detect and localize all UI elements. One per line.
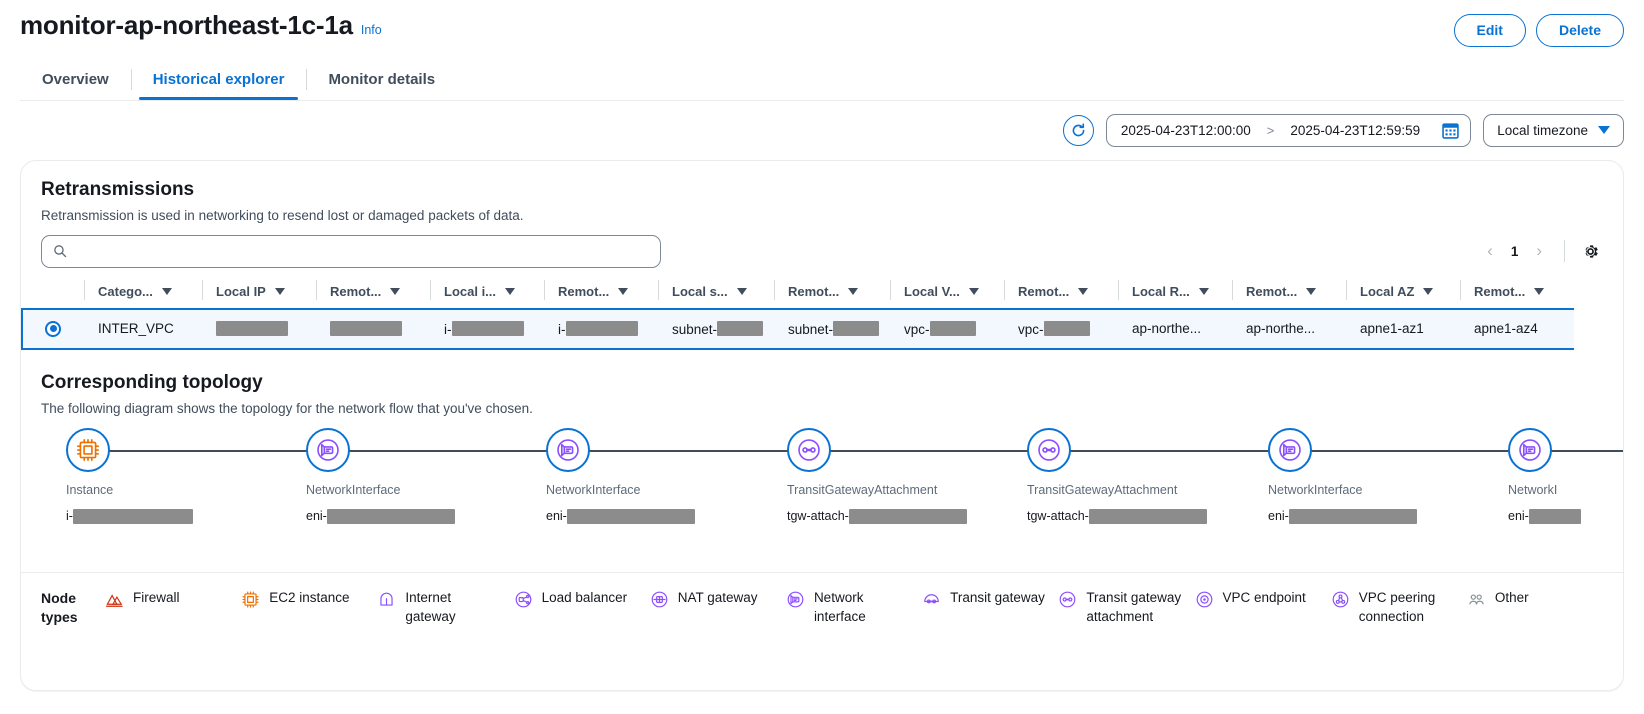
redacted-value [566,321,638,336]
node-types-legend: Node types Firewall EC2 instance Int [21,573,1623,627]
internet-gateway-icon [377,590,396,609]
redacted-value [833,321,879,336]
network-interface-icon [1277,437,1303,463]
sort-icon[interactable] [1423,288,1433,295]
delete-button[interactable]: Delete [1536,14,1624,47]
topology-nodes: Instance i- NetworkInterface eni- [21,422,1623,572]
cell-local-subnet: subnet- [658,309,774,349]
sort-icon[interactable] [1078,288,1088,295]
topology-node-id-prefix: i- [66,509,73,523]
legend-item: NAT gateway [650,589,786,614]
column-header-remote-region[interactable]: Remot... [1232,278,1346,309]
date-range-picker[interactable]: 2025-04-23T12:00:00 > 2025-04-23T12:59:5… [1106,114,1471,147]
topology-node-id-prefix: eni- [1268,509,1289,523]
table-row[interactable]: INTER_VPC i- i- subnet- subnet- vpc- vpc… [22,309,1574,349]
timezone-select[interactable]: Local timezone [1483,114,1624,147]
topology-node-id: eni- [546,509,695,524]
cell-text: apne1-az4 [1474,321,1538,336]
column-label: Remot... [1474,284,1525,299]
column-label: Local R... [1132,284,1190,299]
date-range-from[interactable]: 2025-04-23T12:00:00 [1121,123,1251,138]
table-controls-row: ‹ 1 › [41,235,1603,268]
sort-icon[interactable] [1534,288,1544,295]
vpc-peering-connection-icon [1331,590,1350,609]
redacted-value [1089,509,1207,524]
radio-dot [50,325,57,332]
redacted-value [73,509,193,524]
legend-item: EC2 instance [241,589,377,614]
timezone-label: Local timezone [1497,123,1588,138]
topology-node-type: TransitGatewayAttachment [1027,483,1207,497]
legend-item-label: Internet gateway [405,589,501,625]
redacted-value [1044,321,1090,336]
redacted-value [1529,509,1581,524]
column-label: Remot... [1018,284,1069,299]
redacted-value [452,321,524,336]
topology-node[interactable]: TransitGatewayAttachment tgw-attach- [1027,428,1207,524]
column-label: Local i... [444,284,496,299]
column-label: Local V... [904,284,960,299]
legend-item-label: Network interface [814,589,910,625]
network-interface-icon [786,590,805,609]
cell-text: ap-northe... [1132,321,1201,336]
load-balancer-icon [514,590,533,609]
sort-icon[interactable] [618,288,628,295]
legend-icon-wrap [241,590,260,614]
legend-icon-wrap [650,590,669,614]
legend-icon-wrap [377,590,396,614]
pagination-page-number[interactable]: 1 [1506,244,1524,259]
transit-gateway-attachment-icon [796,437,822,463]
retransmissions-description: Retransmission is used in networking to … [41,208,1603,223]
legend-icon-wrap [514,590,533,614]
column-header-local-subnet[interactable]: Local s... [658,278,774,309]
redacted-value [216,321,288,336]
topology-description: The following diagram shows the topology… [41,401,1603,416]
refresh-button[interactable] [1063,115,1094,146]
topology-node-type: TransitGatewayAttachment [787,483,967,497]
cell-local-region: ap-northe... [1118,309,1232,349]
column-header-local-instance[interactable]: Local i... [430,278,544,309]
topology-node-circle[interactable] [546,428,590,472]
legend-icon-wrap [922,590,941,614]
cell-remote-ip [316,309,430,349]
chevron-down-icon [1598,126,1610,134]
network-interface-icon [315,437,341,463]
gear-icon [1581,242,1600,261]
topology-node[interactable]: TransitGatewayAttachment tgw-attach- [787,428,967,524]
firewall-icon [105,590,124,609]
cell-remote-vpc: vpc- [1004,309,1118,349]
topology-node[interactable]: NetworkInterface eni- [1268,428,1417,524]
cell-text: i- [444,322,452,337]
search-icon [53,244,67,258]
pagination-next-button[interactable]: › [1527,239,1551,263]
sort-icon[interactable] [1199,288,1209,295]
redacted-value [567,509,695,524]
tabs-bar: Overview Historical explorer Monitor det… [0,61,1644,100]
cell-local-ip [202,309,316,349]
sort-icon[interactable] [737,288,747,295]
redacted-value [849,509,967,524]
search-input[interactable] [76,243,649,260]
title-wrap: monitor-ap-northeast-1c-1a Info [20,10,382,41]
topology-node-id: tgw-attach- [1027,509,1207,524]
ec2-instance-icon [75,437,101,463]
legend-item: Transit gateway [922,589,1058,614]
cell-text: ap-northe... [1246,321,1315,336]
column-header-local-region[interactable]: Local R... [1118,278,1232,309]
topology-node-circle[interactable] [1027,428,1071,472]
legend-item-label: Load balancer [542,589,628,607]
sort-icon[interactable] [390,288,400,295]
column-header-remote-subnet[interactable]: Remot... [774,278,890,309]
topology-node[interactable]: NetworkInterface eni- [546,428,695,524]
redacted-value [330,321,402,336]
topology-node[interactable]: Instance i- [66,428,193,524]
column-label: Catego... [98,284,153,299]
topology-node-id: i- [66,509,193,524]
legend-item: Other [1467,589,1603,614]
topology-node-type: NetworkInterface [1268,483,1417,497]
sort-icon[interactable] [969,288,979,295]
tools-divider [1564,240,1565,262]
column-header-local-ip[interactable]: Local IP [202,278,316,309]
redacted-value [1289,509,1417,524]
cell-remote-subnet: subnet- [774,309,890,349]
date-range-to[interactable]: 2025-04-23T12:59:59 [1290,123,1420,138]
flows-table-container: Catego... Local IP Remot... Local i... R… [21,278,1623,350]
column-label: Local IP [216,284,266,299]
topology-node-type: NetworkInterface [306,483,455,497]
topology-node-id: eni- [1268,509,1417,524]
retransmissions-section: Retransmissions Retransmission is used i… [21,161,1623,268]
ec2-instance-icon [241,590,260,609]
legend-icon-wrap [1195,590,1214,614]
legend-item: Internet gateway [377,589,513,625]
sort-icon[interactable] [848,288,858,295]
legend-items: Firewall EC2 instance Internet gateway [105,589,1603,625]
date-range-separator: > [1267,123,1275,138]
topology-node-circle[interactable] [66,428,110,472]
topology-section: Corresponding topology The following dia… [21,350,1623,416]
topology-node-type: NetworkI [1508,483,1581,497]
info-link[interactable]: Info [361,23,382,37]
retransmissions-title: Retransmissions [41,179,1603,201]
tab-historical-explorer[interactable]: Historical explorer [131,61,307,100]
topology-node-circle[interactable] [1268,428,1312,472]
other-icon [1467,590,1486,609]
vpc-endpoint-icon [1195,590,1214,609]
cell-text: vpc- [904,322,930,337]
transit-gateway-icon [922,590,941,609]
table-preferences-button[interactable] [1578,240,1603,263]
column-header-remote-ip[interactable]: Remot... [316,278,430,309]
cell-text: vpc- [1018,322,1044,337]
column-header-category[interactable]: Catego... [84,278,202,309]
legend-item: Transit gateway attachment [1058,589,1194,625]
column-label: Remot... [330,284,381,299]
cell-local-instance: i- [430,309,544,349]
legend-item-label: Other [1495,589,1529,607]
page-title: monitor-ap-northeast-1c-1a [20,10,353,41]
redacted-value [327,509,455,524]
topology-node-type: NetworkInterface [546,483,695,497]
sort-icon[interactable] [275,288,285,295]
refresh-icon [1070,122,1087,139]
cell-text: i- [558,322,566,337]
topology-title: Corresponding topology [41,372,1603,394]
time-controls-row: 2025-04-23T12:00:00 > 2025-04-23T12:59:5… [0,101,1644,160]
transit-gateway-attachment-icon [1058,590,1077,609]
legend-item: Load balancer [514,589,650,614]
cell-text: subnet- [672,322,717,337]
topology-node-id-prefix: eni- [306,509,327,523]
cell-local-az: apne1-az1 [1346,309,1460,349]
edit-button[interactable]: Edit [1454,14,1526,47]
column-header-remote-vpc[interactable]: Remot... [1004,278,1118,309]
pagination-prev-button[interactable]: ‹ [1478,239,1502,263]
column-label: Remot... [788,284,839,299]
column-header-remote-az[interactable]: Remot... [1460,278,1574,309]
topology-node-id: eni- [1508,509,1581,524]
legend-item-label: Transit gateway [950,589,1045,607]
cell-text: subnet- [788,322,833,337]
flows-table: Catego... Local IP Remot... Local i... R… [21,278,1574,350]
row-radio-button[interactable] [45,321,61,337]
column-label: Remot... [558,284,609,299]
topology-node-id-prefix: eni- [1508,509,1529,523]
transit-gateway-attachment-icon [1036,437,1062,463]
select-column-header [22,278,84,309]
column-header-local-vpc[interactable]: Local V... [890,278,1004,309]
topology-node[interactable]: NetworkI eni- [1508,428,1581,524]
topology-node-circle[interactable] [1508,428,1552,472]
flows-table-body: INTER_VPC i- i- subnet- subnet- vpc- vpc… [22,309,1574,349]
cell-category: INTER_VPC [84,309,202,349]
legend-item-label: VPC peering connection [1359,589,1455,625]
column-label: Local s... [672,284,728,299]
legend-title: Node types [41,589,105,627]
legend-item-label: VPC endpoint [1223,589,1306,607]
flows-header-row: Catego... Local IP Remot... Local i... R… [22,278,1574,309]
column-label: Local AZ [1360,284,1414,299]
legend-icon-wrap [105,590,124,614]
legend-icon-wrap [1331,590,1350,614]
network-interface-icon [555,437,581,463]
tab-monitor-details[interactable]: Monitor details [306,61,457,100]
redacted-value [930,321,976,336]
topology-node-id-prefix: eni- [546,509,567,523]
legend-icon-wrap [786,590,805,614]
column-label: Remot... [1246,284,1297,299]
topology-diagram: Instance i- NetworkInterface eni- [21,422,1623,572]
topology-node[interactable]: NetworkInterface eni- [306,428,455,524]
topology-node-circle[interactable] [306,428,350,472]
redacted-value [717,321,763,336]
calendar-icon[interactable] [1442,122,1459,139]
cell-text: INTER_VPC [98,321,174,336]
sort-icon[interactable] [1306,288,1316,295]
legend-item: Firewall [105,589,241,614]
cell-local-vpc: vpc- [890,309,1004,349]
header-actions: Edit Delete [1454,10,1624,47]
flows-table-head: Catego... Local IP Remot... Local i... R… [22,278,1574,309]
topology-node-id: eni- [306,509,455,524]
network-interface-icon [1517,437,1543,463]
tab-overview[interactable]: Overview [20,61,131,100]
legend-item: Network interface [786,589,922,625]
row-select-cell[interactable] [22,309,84,349]
topology-node-type: Instance [66,483,193,497]
search-box[interactable] [41,235,661,268]
legend-item-label: EC2 instance [269,589,349,607]
cell-remote-az: apne1-az4 [1460,309,1574,349]
legend-item-label: NAT gateway [678,589,758,607]
table-tools: ‹ 1 › [1478,239,1603,263]
legend-icon-wrap [1058,590,1077,614]
topology-node-id-prefix: tgw-attach- [787,509,849,523]
cell-text: apne1-az1 [1360,321,1424,336]
legend-item: VPC peering connection [1331,589,1467,625]
topology-node-circle[interactable] [787,428,831,472]
topology-node-id: tgw-attach- [787,509,967,524]
legend-icon-wrap [1467,590,1486,614]
legend-item-label: Firewall [133,589,180,607]
column-header-local-az[interactable]: Local AZ [1346,278,1460,309]
sort-icon[interactable] [162,288,172,295]
cell-remote-region: ap-northe... [1232,309,1346,349]
nat-gateway-icon [650,590,669,609]
legend-item: VPC endpoint [1195,589,1331,614]
legend-item-label: Transit gateway attachment [1086,589,1182,625]
page-header: monitor-ap-northeast-1c-1a Info Edit Del… [0,0,1644,47]
cell-remote-instance: i- [544,309,658,349]
sort-icon[interactable] [505,288,515,295]
column-header-remote-instance[interactable]: Remot... [544,278,658,309]
historical-explorer-card: Retransmissions Retransmission is used i… [20,160,1624,691]
topology-node-id-prefix: tgw-attach- [1027,509,1089,523]
tab-list: Overview Historical explorer Monitor det… [20,61,1624,100]
